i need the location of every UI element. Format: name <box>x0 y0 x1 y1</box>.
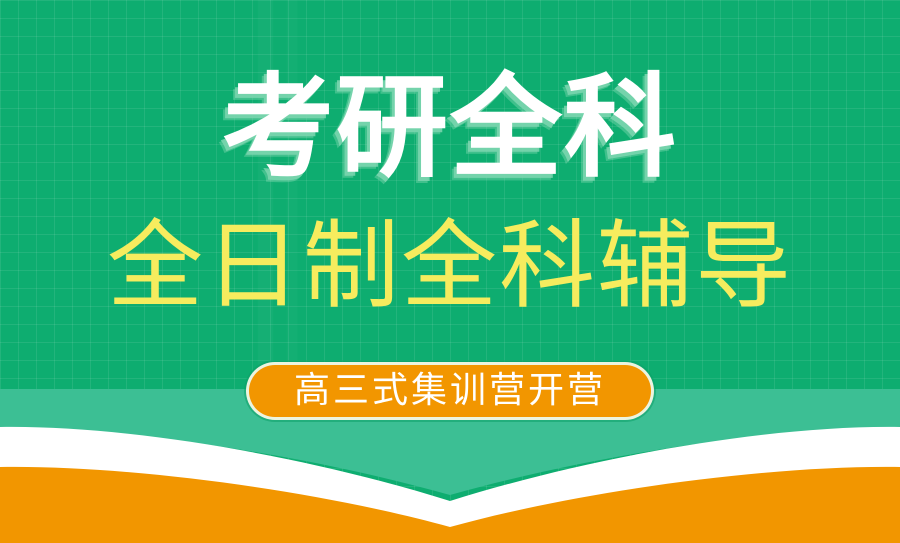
enroll-cta-button[interactable]: 高三式集训营开营 <box>246 362 654 420</box>
cta-container: 高三式集训营开营 <box>246 362 654 420</box>
banner-content: 考研全科 全日制全科辅导 <box>0 0 900 543</box>
promo-banner: 考研全科 全日制全科辅导 高三式集训营开营 <box>0 0 900 543</box>
page-title: 考研全科 <box>0 72 900 184</box>
page-subtitle: 全日制全科辅导 <box>0 218 900 314</box>
